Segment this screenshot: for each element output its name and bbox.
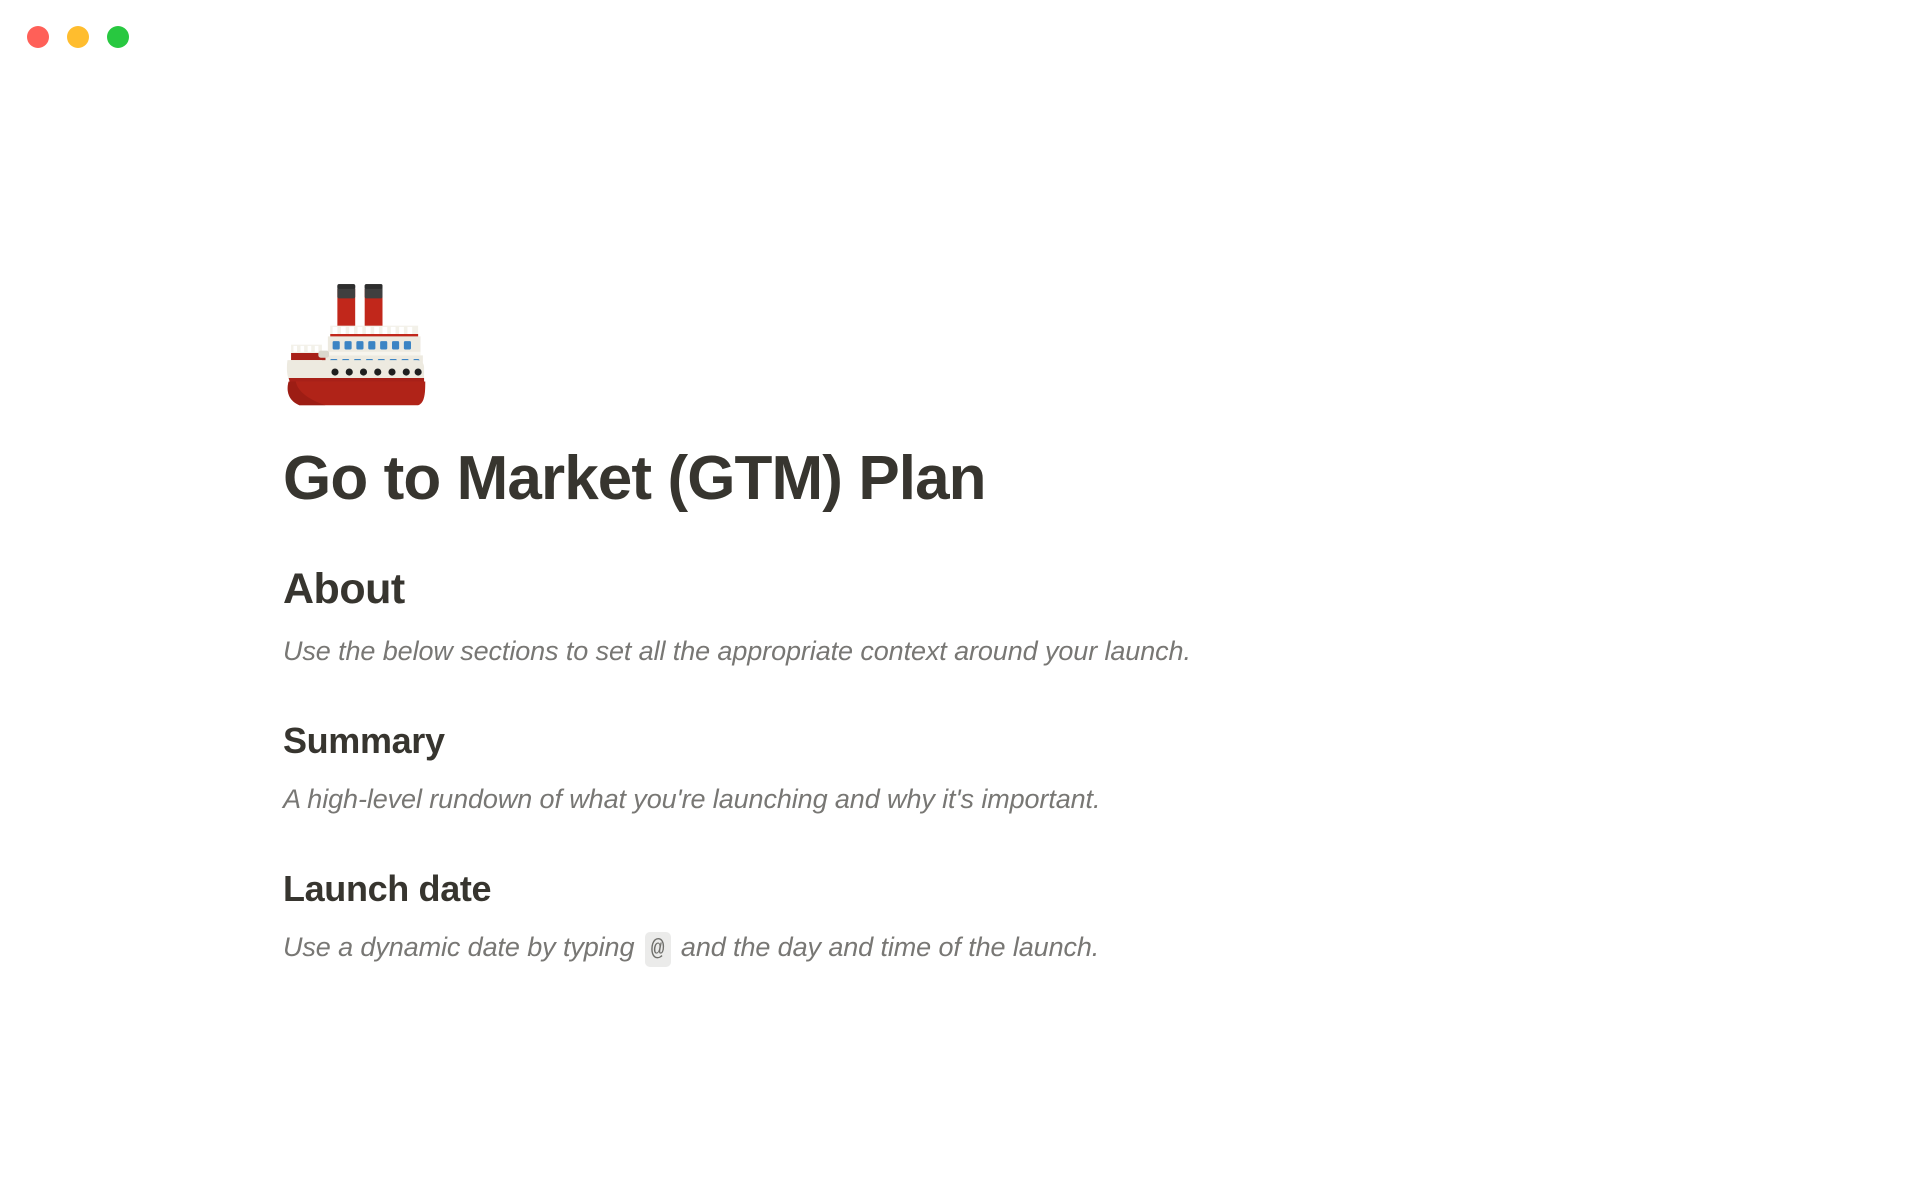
- paragraph-launch-date-prefix: Use a dynamic date by typing: [283, 932, 642, 962]
- paragraph-summary-text: A high-level rundown of what you're laun…: [283, 784, 1100, 814]
- paragraph-about-text: Use the below sections to set all the ap…: [283, 636, 1191, 666]
- close-window-button[interactable]: [27, 26, 49, 48]
- document-scroll-area[interactable]: Go to Market (GTM) Plan About Use the be…: [0, 74, 1920, 1200]
- paragraph-about[interactable]: Use the below sections to set all the ap…: [283, 631, 1740, 672]
- passenger-ship-emoji-icon[interactable]: [278, 258, 430, 410]
- document-page: Go to Market (GTM) Plan About Use the be…: [0, 74, 1920, 968]
- page-title[interactable]: Go to Market (GTM) Plan: [283, 444, 1740, 513]
- paragraph-summary[interactable]: A high-level rundown of what you're laun…: [283, 779, 1740, 820]
- maximize-window-button[interactable]: [107, 26, 129, 48]
- minimize-window-button[interactable]: [67, 26, 89, 48]
- heading-launch-date[interactable]: Launch date: [283, 866, 1740, 913]
- paragraph-launch-date[interactable]: Use a dynamic date by typing @ and the d…: [283, 927, 1740, 968]
- heading-summary[interactable]: Summary: [283, 718, 1740, 765]
- window-title-bar: [0, 0, 1920, 74]
- paragraph-launch-date-suffix: and the day and time of the launch.: [674, 932, 1100, 962]
- traffic-light-buttons: [27, 26, 129, 48]
- heading-about[interactable]: About: [283, 563, 1740, 617]
- at-mention-code-chip[interactable]: @: [645, 932, 671, 967]
